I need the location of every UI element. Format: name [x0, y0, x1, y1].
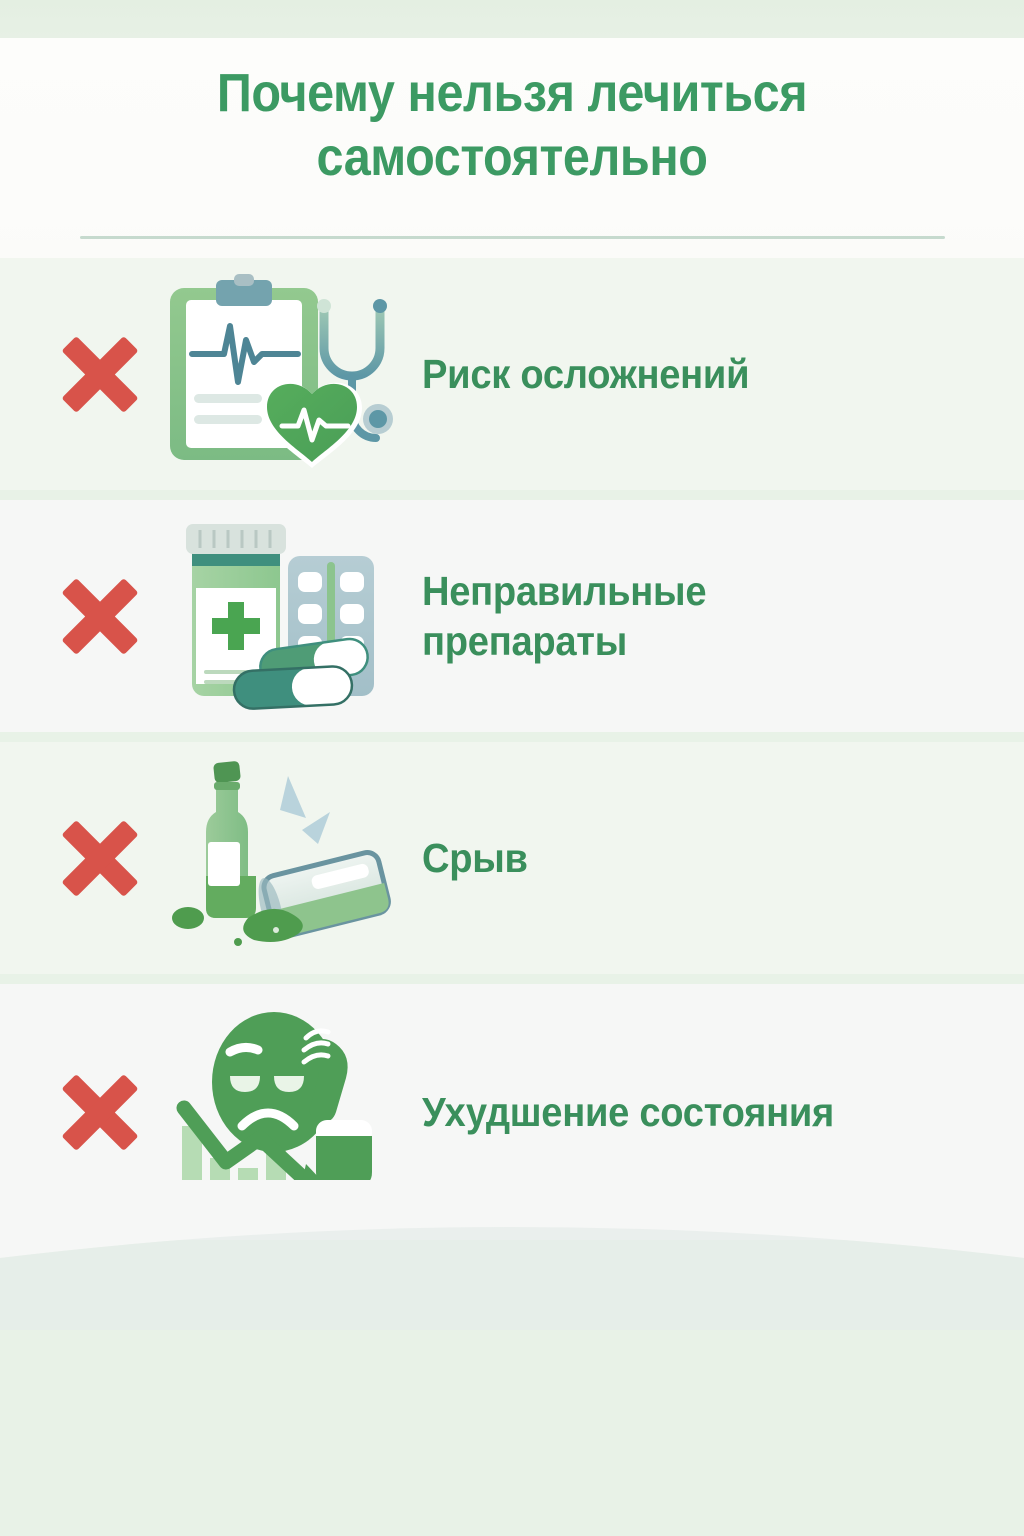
red-cross-icon [52, 810, 148, 906]
reason-label-1: Риск осложнений [422, 349, 749, 399]
poster-canvas: Почему нельзя лечиться самостоятельно [0, 0, 1024, 1536]
reason-row-3[interactable]: Срыв [0, 742, 1024, 974]
pill-bottle-blister-capsules-icon [162, 511, 402, 721]
reason-row-1[interactable]: Риск осложнений [0, 258, 1024, 490]
reason-row-2[interactable]: Неправильные препараты [0, 500, 1024, 732]
bottle-spilled-glass-icon [162, 753, 402, 963]
reason-label-3: Срыв [422, 833, 528, 883]
reason-label-4: Ухудшение состояния [422, 1087, 834, 1137]
title-divider [80, 236, 945, 239]
page-title: Почему нельзя лечиться самостоятельно [51, 62, 973, 189]
clipboard-ecg-heart-stethoscope-icon [162, 269, 402, 479]
top-accent-strip [0, 0, 1024, 38]
red-cross-icon [52, 568, 148, 664]
red-cross-icon [52, 326, 148, 422]
reason-label-2: Неправильные препараты [422, 566, 706, 666]
bottom-background [0, 1330, 1024, 1536]
red-cross-icon [52, 1064, 148, 1160]
